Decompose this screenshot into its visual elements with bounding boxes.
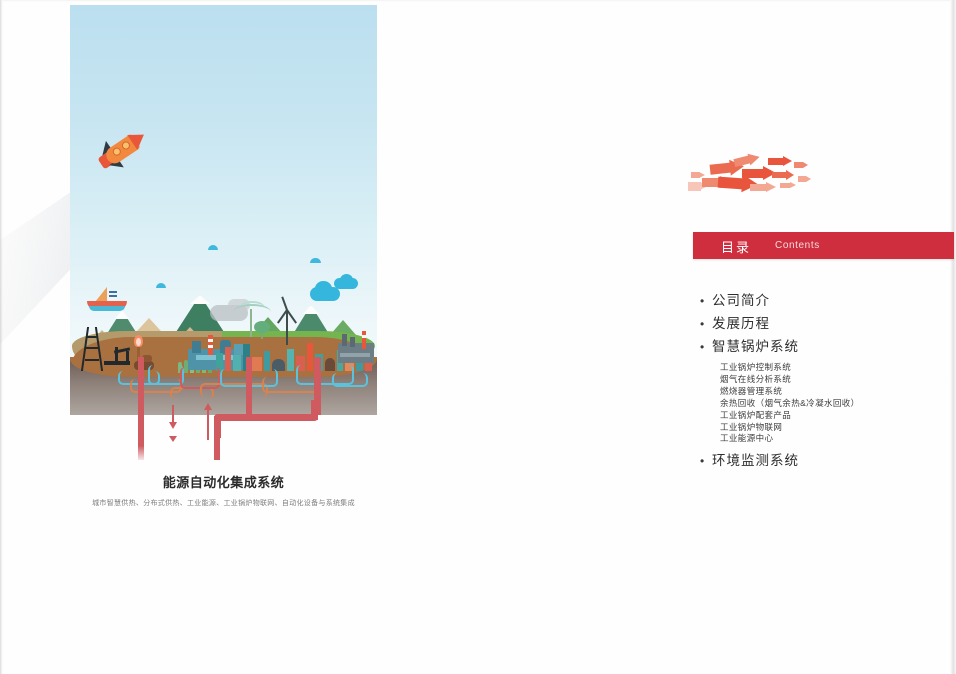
slide-page: 能源自动化集成系统 城市智慧供热、分布式供热、工业能源、工业锅炉物联网、自动化设…	[0, 0, 956, 674]
page-edge-top	[0, 0, 956, 2]
page-edge-right	[950, 0, 956, 674]
toc-item-label: 智慧锅炉系统	[712, 337, 799, 357]
toc-subitem[interactable]: 工业锅炉配套产品	[720, 410, 950, 422]
pipeline-descender	[138, 412, 144, 460]
arrow-icon	[772, 170, 794, 180]
arrow-icon	[768, 156, 792, 167]
energy-landscape-illustration	[70, 5, 377, 415]
toc-subitem[interactable]: 烟气在线分析系统	[720, 374, 950, 386]
arrow-icon	[780, 182, 796, 189]
toc-subitem[interactable]: 工业能源中心	[720, 433, 950, 445]
oil-derrick-icon	[84, 327, 100, 371]
cloud-icon	[310, 258, 321, 263]
contents-title-cn: 目录	[721, 237, 751, 256]
arrow-down-icon	[169, 422, 177, 429]
toc-item[interactable]: •发展历程	[700, 314, 950, 334]
illustration-title: 能源自动化集成系统	[70, 472, 377, 491]
main-pipeline-icon	[138, 357, 144, 415]
toc-item-label: 环境监测系统	[712, 451, 799, 471]
arrows-cluster-logo	[688, 150, 813, 202]
toc-item[interactable]: •智慧锅炉系统	[700, 337, 950, 357]
toc-item-label: 发展历程	[712, 314, 770, 334]
pipeline-riser-right	[311, 400, 318, 420]
wind-turbine-icon	[276, 305, 298, 345]
tree-icon	[254, 321, 270, 339]
toc-subitem[interactable]: 燃烧器管理系统	[720, 386, 950, 398]
factory-icon	[338, 331, 374, 363]
sailboat-icon	[87, 287, 127, 311]
arrow-icon	[798, 176, 811, 182]
contents-title-en: Contents	[775, 240, 820, 251]
arrow-down-stem	[172, 405, 174, 423]
pipeline-horizontal	[214, 414, 318, 421]
arrow-icon	[750, 182, 776, 193]
illustration-subtitle: 城市智慧供热、分布式供热、工业能源、工业锅炉物联网、自动化设备与系统集成	[45, 498, 402, 508]
arrow-down-icon	[169, 436, 177, 442]
toc-sublist: 工业锅炉控制系统烟气在线分析系统燃烧器管理系统余热回收（烟气余热&冷凝水回收）工…	[720, 362, 950, 445]
cloud-icon	[156, 283, 166, 288]
toc-subitem[interactable]: 余热回收（烟气余热&冷凝水回收）	[720, 398, 950, 410]
toc-item[interactable]: •环境监测系统	[700, 451, 950, 471]
bullet-icon: •	[700, 451, 712, 471]
toc-item[interactable]: •公司简介	[700, 291, 950, 311]
pumpjack-icon	[104, 345, 130, 367]
arrow-up-stem	[207, 410, 209, 440]
bullet-icon: •	[700, 314, 712, 334]
toc-subitem[interactable]: 工业锅炉物联网	[720, 422, 950, 434]
arrow-up-icon	[204, 403, 212, 410]
arrow-icon	[742, 166, 776, 181]
mountain-snow-icon	[303, 305, 319, 314]
bullet-icon: •	[700, 337, 712, 357]
toc-subitem[interactable]: 工业锅炉控制系统	[720, 362, 950, 374]
pipeline-icon	[332, 373, 368, 387]
toc-item-label: 公司简介	[712, 291, 770, 311]
bullet-icon: •	[700, 291, 712, 311]
arrow-icon	[794, 162, 808, 168]
main-pipeline-icon	[246, 357, 252, 415]
cloud-icon	[208, 245, 218, 250]
mountain-snow-icon	[190, 295, 210, 304]
contents-banner: 目录 Contents	[693, 232, 954, 259]
table-of-contents: •公司简介•发展历程•智慧锅炉系统工业锅炉控制系统烟气在线分析系统燃烧器管理系统…	[700, 291, 950, 474]
rocket-icon	[93, 119, 155, 176]
